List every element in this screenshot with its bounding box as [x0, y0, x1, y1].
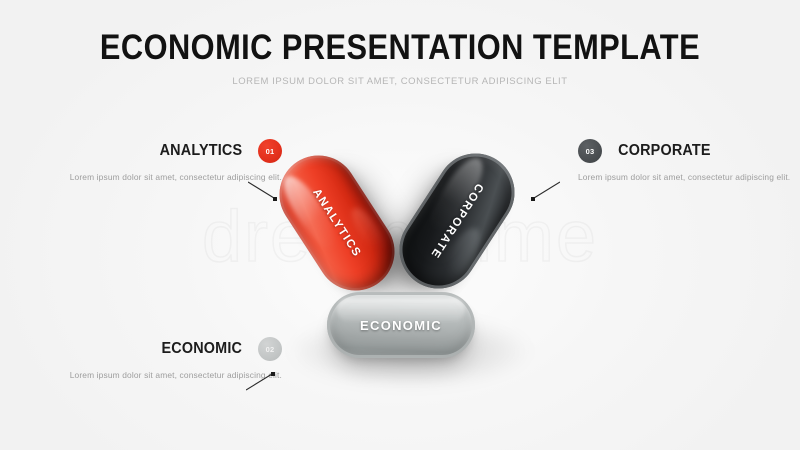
info-block-corporate-title: CORPORATE [618, 142, 711, 160]
slide-canvas: dreamstime ECONOMIC PRESENTATION TEMPLAT… [0, 0, 800, 450]
info-block-analytics-title: ANALYTICS [160, 142, 243, 160]
pill-corporate[interactable]: CORPORATE [385, 139, 530, 304]
page-subtitle: LOREM IPSUM DOLOR SIT AMET, CONSECTETUR … [0, 76, 800, 87]
badge-number-03[interactable]: 03 [578, 139, 602, 163]
page-title: ECONOMIC PRESENTATION TEMPLATE [48, 30, 752, 67]
info-block-corporate-body: Lorem ipsum dolor sit amet, consectetur … [578, 171, 796, 184]
slide-header: ECONOMIC PRESENTATION TEMPLATE LOREM IPS… [0, 30, 800, 87]
badge-number-03-label: 03 [586, 147, 595, 156]
pill-diagram: ANALYTICS CORPORATE ECONOMIC [250, 140, 560, 385]
pill-analytics-label: ANALYTICS [310, 187, 363, 260]
info-block-economic-title: ECONOMIC [162, 340, 243, 358]
pill-analytics[interactable]: ANALYTICS [265, 141, 410, 306]
pill-corporate-label: CORPORATE [428, 181, 485, 261]
info-block-corporate-head: 03 CORPORATE [578, 138, 796, 164]
pill-economic-label: ECONOMIC [360, 318, 442, 333]
pill-economic[interactable]: ECONOMIC [327, 292, 475, 358]
info-block-corporate[interactable]: 03 CORPORATE Lorem ipsum dolor sit amet,… [578, 138, 796, 184]
